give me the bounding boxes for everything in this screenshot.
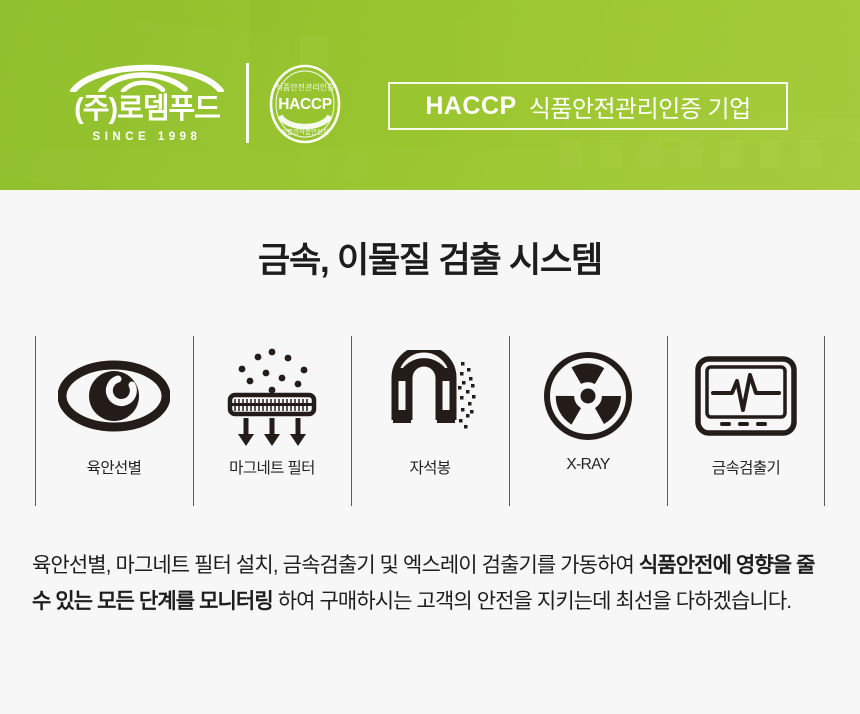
detection-item-xray: X-RAY (509, 336, 667, 506)
logo-company-name: (주)로뎀푸드 (62, 94, 232, 124)
radiation-icon (543, 351, 633, 441)
haccp-badge-korean: 식품안전관리인증 기업 (529, 89, 751, 124)
hero-banner: (주)로뎀푸드 SINCE 1998 식품안전관리인증 HACCP 식품의약품안… (0, 0, 860, 190)
detection-item-label: 마그네트 필터 (229, 456, 315, 478)
detection-item-visual-inspection: 육안선별 (35, 336, 193, 506)
arc-swoosh-icon (67, 58, 227, 92)
description-line-2: 하여 구매하시는 고객의 안전을 지키는데 최선을 다하겠습니다. (273, 590, 791, 613)
svg-text:HACCP: HACCP (278, 96, 332, 113)
description-line-1: 육안선별, 마그네트 필터 설치, 금속검출기 및 엑스레이 검출기를 가동하여 (32, 554, 639, 577)
logo-since-text: SINCE 1998 (62, 131, 232, 143)
haccp-badge: HACCP 식품안전관리인증 기업 (388, 82, 788, 130)
magnet-filter-icon (220, 344, 324, 448)
detection-item-label: 자석봉 (410, 456, 451, 478)
svg-text:식품안전관리인증: 식품안전관리인증 (276, 82, 335, 92)
detection-item-label: X-RAY (566, 456, 609, 474)
detection-item-magnet-filter: 마그네트 필터 (193, 336, 351, 506)
detection-system-icon-row: 육안선별 (0, 336, 860, 506)
svg-text:식품의약품안전처: 식품의약품안전처 (281, 127, 329, 136)
description-paragraph: 육안선별, 마그네트 필터 설치, 금속검출기 및 엑스레이 검출기를 가동하여… (32, 548, 832, 620)
detection-item-magnet-bar: 자석봉 (351, 336, 509, 506)
detection-item-label: 금속검출기 (712, 456, 780, 478)
detection-item-label: 육안선별 (87, 456, 142, 478)
page-root: (주)로뎀푸드 SINCE 1998 식품안전관리인증 HACCP 식품의약품안… (0, 0, 860, 714)
horseshoe-magnet-icon (380, 350, 480, 442)
monitor-waveform-icon (694, 355, 798, 437)
eye-icon (58, 357, 170, 435)
company-logo: (주)로뎀푸드 SINCE 1998 (62, 58, 232, 143)
haccp-badge-english: HACCP (425, 92, 516, 121)
page-title: 금속, 이물질 검출 시스템 (0, 232, 860, 283)
hero-vertical-divider (246, 63, 249, 143)
detection-item-metal-detector: 금속검출기 (667, 336, 825, 506)
haccp-certification-seal-icon: 식품안전관리인증 HACCP 식품의약품안전처 (268, 64, 342, 144)
